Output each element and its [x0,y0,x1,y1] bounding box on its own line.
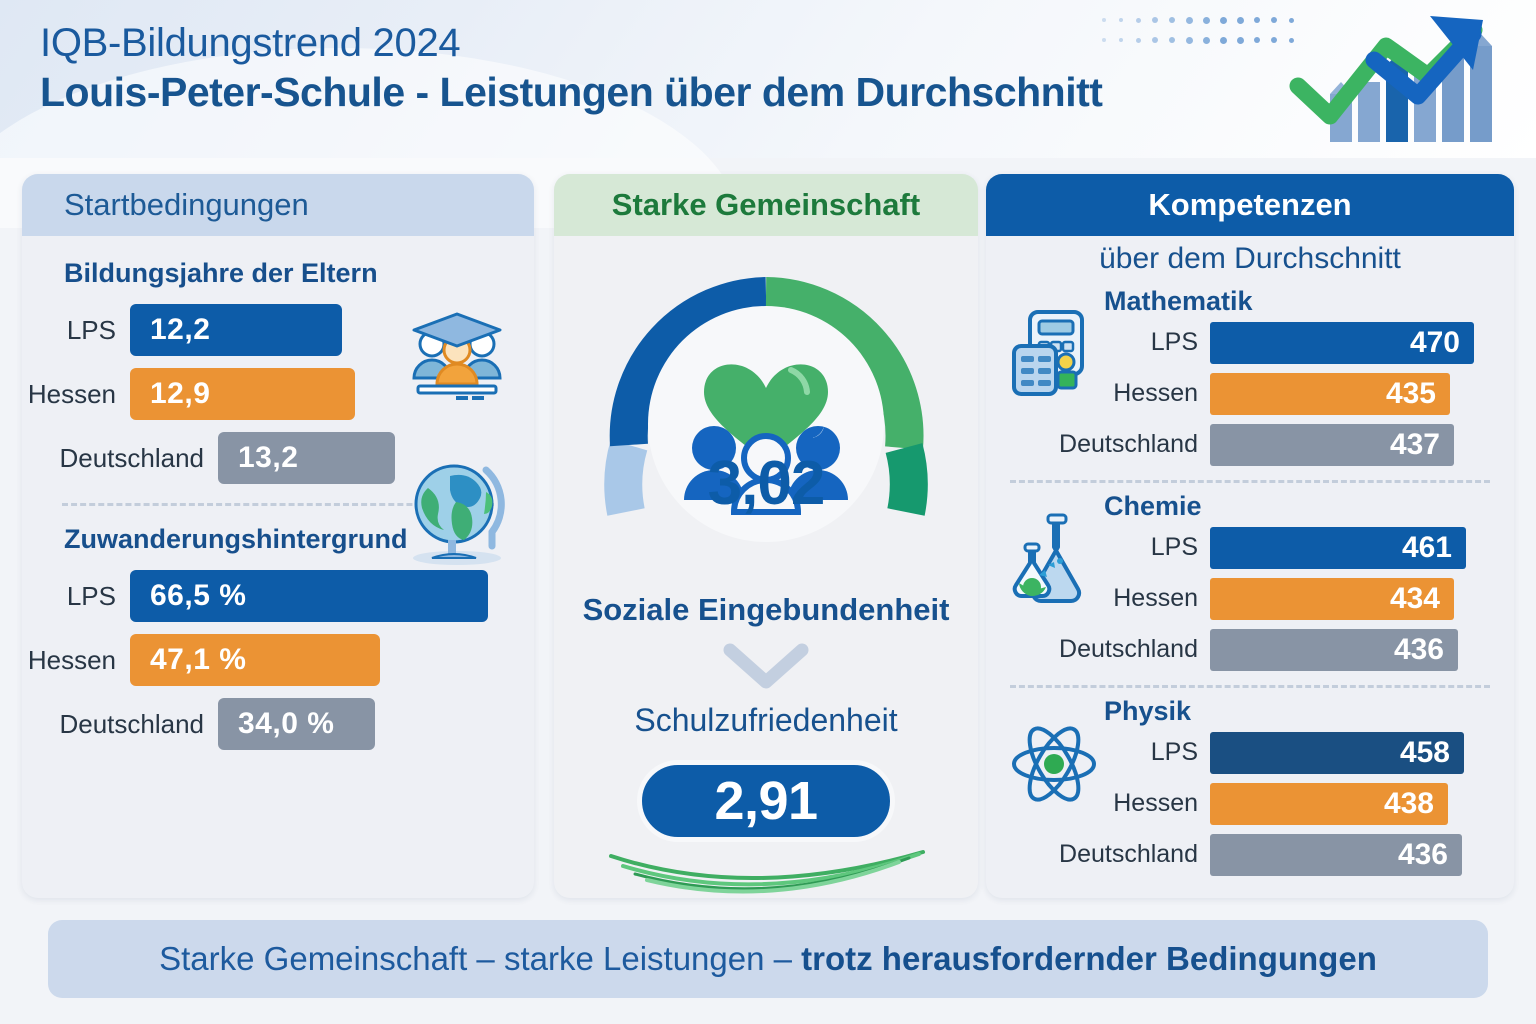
footer-banner: Starke Gemeinschaft – starke Leistungen … [48,920,1488,998]
section-divider [1010,480,1490,483]
bar-value: 436 [1210,834,1462,876]
footer-text-normal: Starke Gemeinschaft – starke Leistungen … [159,940,801,977]
subject-physik: Physik LPS 458 Hessen 438 Deutschland 43… [986,692,1514,884]
page-header: IQB-Bildungstrend 2024 Louis-Peter-Schul… [0,0,1536,158]
panel-starke-gemeinschaft: Starke Gemeinschaft [554,174,978,898]
green-swoosh-decoration [601,836,931,898]
growth-arrow-bar-chart-icon [1268,4,1518,154]
footer-text: Starke Gemeinschaft – starke Leistungen … [159,940,1377,978]
atom-icon [1008,718,1100,810]
bar-value: 435 [1210,373,1450,415]
bar-value: 458 [1210,732,1464,774]
row-label: Hessen [22,379,130,410]
panel-kompetenzen-title: Kompetenzen [1148,187,1351,223]
bar-value: 470 [1210,322,1474,364]
gauge-label: Soziale Eingebundenheit [554,592,978,628]
row-label: LPS [22,581,130,612]
bar-value: 434 [1210,578,1454,620]
table-row: Hessen 47,1 % [22,631,534,689]
page-title-line2: Louis-Peter-Schule - Leistungen über dem… [40,67,1102,118]
schulzufriedenheit-value: 2,91 [637,760,895,842]
row-label: Deutschland [22,709,218,740]
section-divider [1010,685,1490,688]
panel-gemeinschaft-title: Starke Gemeinschaft [612,187,920,223]
subject-title: Chemie [1104,491,1514,522]
subject-mathematik: Mathematik LPS 470 Hessen 435 Deutschlan… [986,282,1514,474]
bar-value: 12,2 [130,304,342,356]
row-label: Deutschland [986,635,1210,664]
schulzufriedenheit-label: Schulzufriedenheit [554,702,978,739]
row-label: LPS [22,315,130,346]
bar-value: 13,2 [218,432,395,484]
gauge-value: 3,02 [586,448,946,519]
flask-beaker-icon [1008,513,1100,605]
group-title-bildungsjahre: Bildungsjahre der Eltern [22,258,534,289]
bar-value: 436 [1210,629,1458,671]
table-row: Deutschland 437 [986,421,1514,468]
bar-value: 47,1 % [130,634,380,686]
bar-value: 438 [1210,783,1448,825]
row-label: Deutschland [22,443,218,474]
row-label: Deutschland [986,430,1210,459]
chevron-down-icon [722,642,810,690]
table-row: Deutschland 436 [986,626,1514,673]
panel-gemeinschaft-body: 3,02 Soziale Eingebundenheit Schulzufrie… [554,236,978,898]
page-title-line1: IQB-Bildungstrend 2024 [40,20,1102,67]
panel-kompetenzen: Kompetenzen über dem Durchschnitt [986,174,1514,898]
row-label: Hessen [22,645,130,676]
bar-value: 34,0 % [218,698,375,750]
panel-startbedingungen: Startbedingungen Bildungsjahre der Elter… [22,174,534,898]
panel-kompetenzen-header: Kompetenzen [986,174,1514,236]
panel-gemeinschaft-header: Starke Gemeinschaft [554,174,978,236]
subject-title: Mathematik [1104,286,1514,317]
table-row: Deutschland 436 [986,831,1514,878]
table-row: Deutschland 34,0 % [22,695,534,753]
calculator-icon [1008,308,1100,400]
subject-chemie: Chemie LPS 461 Hessen 434 Deutschland 43… [986,487,1514,679]
bar-value: 461 [1210,527,1466,569]
table-row: LPS 66,5 % [22,567,534,625]
footer-text-bold: trotz herausfordernder Bedingungen [801,940,1377,977]
panel-startbedingungen-body: Bildungsjahre der Eltern LPS 12,2 Hessen… [22,236,534,898]
panel-startbedingungen-header: Startbedingungen [22,174,534,236]
gauge-soziale-eingebundenheit: 3,02 [586,252,946,582]
subject-title: Physik [1104,696,1514,727]
row-label: Deutschland [986,840,1210,869]
bar-value: 437 [1210,424,1454,466]
bar-value: 12,9 [130,368,355,420]
panel-kompetenzen-body: über dem Durchschnitt [986,236,1514,898]
bar-value: 66,5 % [130,570,488,622]
globe-icon [398,448,516,566]
panel-startbedingungen-title: Startbedingungen [64,187,309,223]
graduation-family-icon [404,308,508,404]
kompetenzen-subheading: über dem Durchschnitt [986,242,1514,276]
title-block: IQB-Bildungstrend 2024 Louis-Peter-Schul… [40,20,1102,118]
